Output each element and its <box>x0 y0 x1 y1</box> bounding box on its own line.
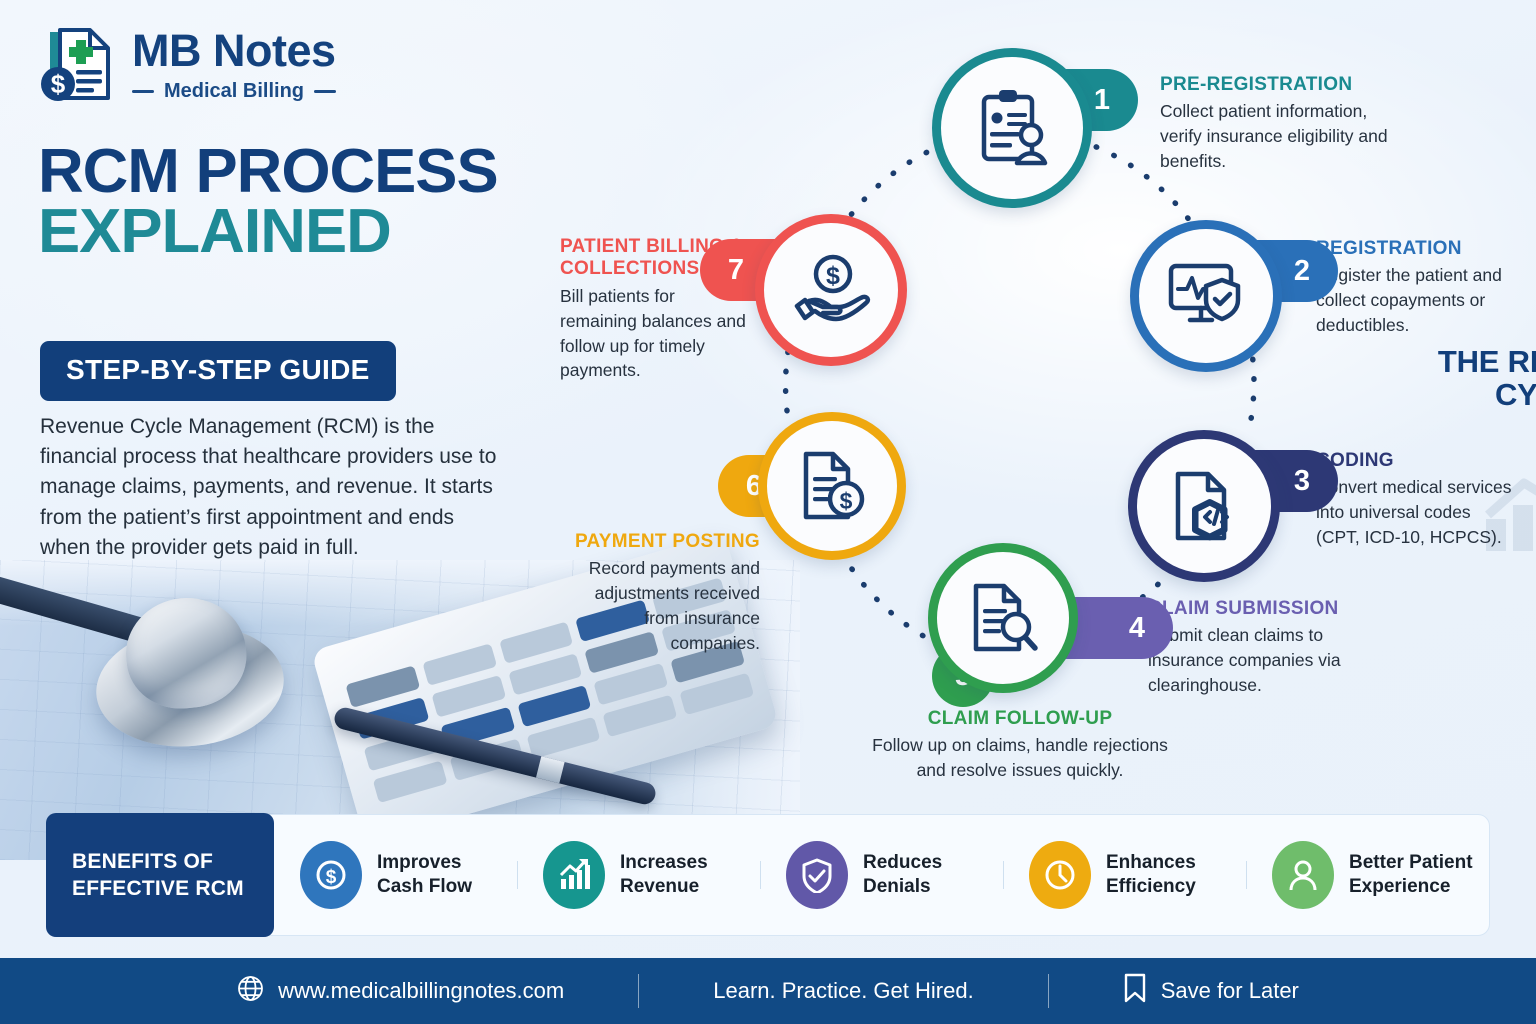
step-1-description: Collect patient information, verify insu… <box>1160 99 1390 174</box>
title-line-2: EXPLAINED <box>38 202 589 263</box>
benefit-label: Better Patient Experience <box>1349 851 1473 900</box>
tagline-dash-left <box>132 90 154 93</box>
document-code-icon <box>1164 466 1244 546</box>
benefit-increases-revenue[interactable]: Increases Revenue <box>517 841 760 909</box>
clipboard-patient-icon <box>971 87 1053 169</box>
bookmark-icon <box>1123 973 1147 1009</box>
person-icon <box>1272 841 1334 909</box>
benefit-label: Improves Cash Flow <box>377 851 472 900</box>
benefit-label: Increases Revenue <box>620 851 708 900</box>
benefits-title-line-2: EFFECTIVE RCM <box>72 875 274 902</box>
document-dollar-icon: $ <box>794 448 870 524</box>
step-6-label: PAYMENT POSTING Record payments and adju… <box>560 531 760 656</box>
svg-text:$: $ <box>51 69 66 99</box>
benefit-enhances-efficiency[interactable]: Enhances Efficiency <box>1003 841 1246 909</box>
brand-name: MB Notes <box>132 28 336 73</box>
step-2-title: REGISTRATION <box>1316 238 1516 260</box>
benefits-items: $ Improves Cash Flow <box>274 815 1489 935</box>
benefit-better-patient-experience[interactable]: Better Patient Experience <box>1246 841 1489 909</box>
subtitle-pill: STEP-BY-STEP GUIDE <box>40 341 396 401</box>
globe-icon <box>237 975 264 1008</box>
benefit-line-2: Revenue <box>620 875 708 899</box>
footer-save-for-later[interactable]: Save for Later <box>1123 973 1299 1009</box>
step-6-title: PAYMENT POSTING <box>560 531 760 553</box>
benefit-label: Reduces Denials <box>863 851 942 900</box>
benefit-line-1: Increases <box>620 851 708 875</box>
step-3-circle[interactable] <box>1128 430 1280 582</box>
step-6-description: Record payments and adjustments received… <box>560 556 760 655</box>
benefit-line-2: Efficiency <box>1106 875 1196 899</box>
benefits-bar: BENEFITS OF EFFECTIVE RCM $ Improves Cas… <box>46 814 1490 936</box>
bar-chart-up-icon <box>543 841 605 909</box>
hand-dollar-icon: $ <box>791 250 871 330</box>
step-2-label: REGISTRATION Register the patient and co… <box>1316 238 1516 338</box>
step-3-title: CODING <box>1316 450 1516 472</box>
step-3-description: Convert medical services into universal … <box>1316 475 1516 550</box>
footer-separator-2 <box>1048 974 1049 1008</box>
footer-bar: www.medicalbillingnotes.com Learn. Pract… <box>0 958 1536 1024</box>
page-title: RCM PROCESS EXPLAINED <box>38 142 578 262</box>
footer-motto: Learn. Practice. Get Hired. <box>713 978 973 1004</box>
step-1-title: PRE-REGISTRATION <box>1160 74 1390 96</box>
benefit-line-1: Enhances <box>1106 851 1196 875</box>
step-6-circle[interactable]: $ <box>758 412 906 560</box>
footer-separator-1 <box>638 974 639 1008</box>
benefit-line-2: Denials <box>863 875 942 899</box>
tagline-dash-right <box>314 90 336 93</box>
brand-text: MB Notes Medical Billing <box>132 28 336 103</box>
benefit-reduces-denials[interactable]: Reduces Denials <box>760 841 1003 909</box>
footer-motto-text: Learn. Practice. Get Hired. <box>713 978 973 1004</box>
step-1-label: PRE-REGISTRATION Collect patient informa… <box>1160 74 1390 174</box>
svg-text:$: $ <box>326 867 337 888</box>
medical-document-dollar-icon: $ <box>40 24 118 106</box>
step-5-title: CLAIM FOLLOW-UP <box>860 708 1180 730</box>
infographic-canvas: $ MB Notes Medical Billing RCM PROCESS E… <box>0 0 1536 1024</box>
benefit-improves-cash-flow[interactable]: $ Improves Cash Flow <box>274 841 517 909</box>
benefit-line-1: Reduces <box>863 851 942 875</box>
footer-website-text: www.medicalbillingnotes.com <box>278 978 564 1004</box>
svg-text:$: $ <box>826 262 840 290</box>
cycle-center-title: THE REVENUE CYCLE <box>1427 345 1536 412</box>
benefit-line-1: Improves <box>377 851 472 875</box>
benefit-line-1: Better Patient <box>1349 851 1473 875</box>
benefits-title: BENEFITS OF EFFECTIVE RCM <box>46 813 274 937</box>
title-line-1: RCM PROCESS <box>38 142 589 202</box>
footer-website[interactable]: www.medicalbillingnotes.com <box>237 975 564 1008</box>
step-5-label: CLAIM FOLLOW-UP Follow up on claims, han… <box>860 708 1180 783</box>
brand-logo[interactable]: $ MB Notes Medical Billing <box>40 24 336 106</box>
benefit-line-2: Cash Flow <box>377 875 472 899</box>
step-5-description: Follow up on claims, handle rejections a… <box>860 733 1180 783</box>
step-4-description: Submit clean claims to insurance compani… <box>1148 623 1358 698</box>
step-5-circle[interactable] <box>928 543 1078 693</box>
footer-save-text: Save for Later <box>1161 978 1299 1004</box>
dollar-coin-icon: $ <box>300 841 362 909</box>
step-7-circle[interactable]: $ <box>755 214 907 366</box>
benefit-line-2: Experience <box>1349 875 1473 899</box>
step-4-label: CLAIM SUBMISSION Submit clean claims to … <box>1148 598 1358 698</box>
intro-paragraph: Revenue Cycle Management (RCM) is the fi… <box>40 412 510 563</box>
step-1-circle[interactable] <box>932 48 1092 208</box>
shield-check-icon <box>786 841 848 909</box>
step-3-label: CODING Convert medical services into uni… <box>1316 450 1516 550</box>
step-2-circle[interactable] <box>1130 220 1282 372</box>
svg-text:$: $ <box>840 488 853 514</box>
document-magnifier-icon <box>964 579 1042 657</box>
benefit-label: Enhances Efficiency <box>1106 851 1196 900</box>
benefits-title-line-1: BENEFITS OF <box>72 848 274 875</box>
brand-tagline: Medical Billing <box>164 80 304 103</box>
monitor-shield-icon <box>1166 256 1246 336</box>
brand-tagline-row: Medical Billing <box>132 80 336 103</box>
step-2-description: Register the patient and collect copayme… <box>1316 263 1516 338</box>
step-4-title: CLAIM SUBMISSION <box>1148 598 1358 620</box>
clock-icon <box>1029 841 1091 909</box>
